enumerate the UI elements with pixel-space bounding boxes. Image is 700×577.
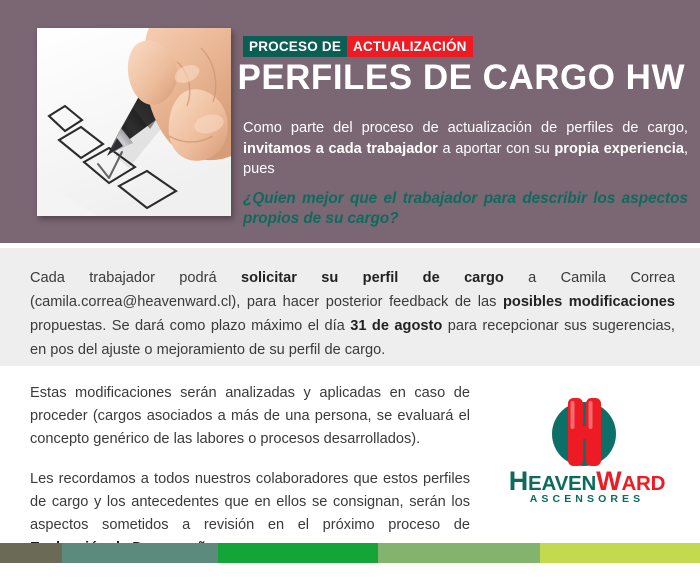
heavenward-logo: HEAVENWARD ASCENSORES bbox=[497, 396, 677, 506]
page-title: PERFILES DE CARGO HW bbox=[237, 58, 685, 98]
footer-color-segment-5 bbox=[540, 543, 700, 563]
header-question: ¿Quien mejor que el trabajador para desc… bbox=[243, 189, 688, 229]
badge-proceso-de: PROCESO DE bbox=[243, 36, 347, 57]
h-monogram-in-circle-icon bbox=[535, 396, 633, 468]
footer-color-segment-3 bbox=[218, 543, 378, 563]
logo-word-ward: WARD bbox=[596, 466, 665, 496]
logo-ward-rest: ARD bbox=[621, 472, 665, 495]
body-paragraph-1: Estas modificaciones serán analizadas y … bbox=[30, 382, 470, 451]
checklist-photo bbox=[37, 28, 231, 216]
badge-actualizacion: ACTUALIZACIÓN bbox=[347, 36, 473, 57]
logo-word-heaven: HEAVEN bbox=[509, 466, 596, 496]
logo-tagline: ASCENSORES bbox=[497, 493, 677, 505]
logo-wordmark: HEAVENWARD bbox=[497, 466, 677, 492]
footer-color-segment-1 bbox=[0, 543, 62, 563]
kicker-badges: PROCESO DE ACTUALIZACIÓN bbox=[243, 36, 473, 57]
logo-heaven-rest: EAVEN bbox=[528, 472, 596, 495]
highlight-paragraph: Cada trabajador podrá solicitar su perfi… bbox=[30, 266, 675, 362]
header-photo-frame bbox=[37, 28, 231, 216]
logo-ward-initial: W bbox=[596, 466, 621, 496]
footer-color-bar bbox=[0, 543, 700, 563]
header-banner: PROCESO DE ACTUALIZACIÓN PERFILES DE CAR… bbox=[0, 0, 700, 243]
header-intro-paragraph: Como parte del proceso de actualización … bbox=[243, 118, 688, 180]
footer-color-segment-4 bbox=[378, 543, 540, 563]
logo-heaven-initial: H bbox=[509, 466, 528, 496]
poster-root: PROCESO DE ACTUALIZACIÓN PERFILES DE CAR… bbox=[0, 0, 700, 563]
footer-color-segment-2 bbox=[62, 543, 218, 563]
header-text-block: PROCESO DE ACTUALIZACIÓN PERFILES DE CAR… bbox=[243, 0, 688, 243]
highlight-band: Cada trabajador podrá solicitar su perfi… bbox=[0, 248, 700, 366]
